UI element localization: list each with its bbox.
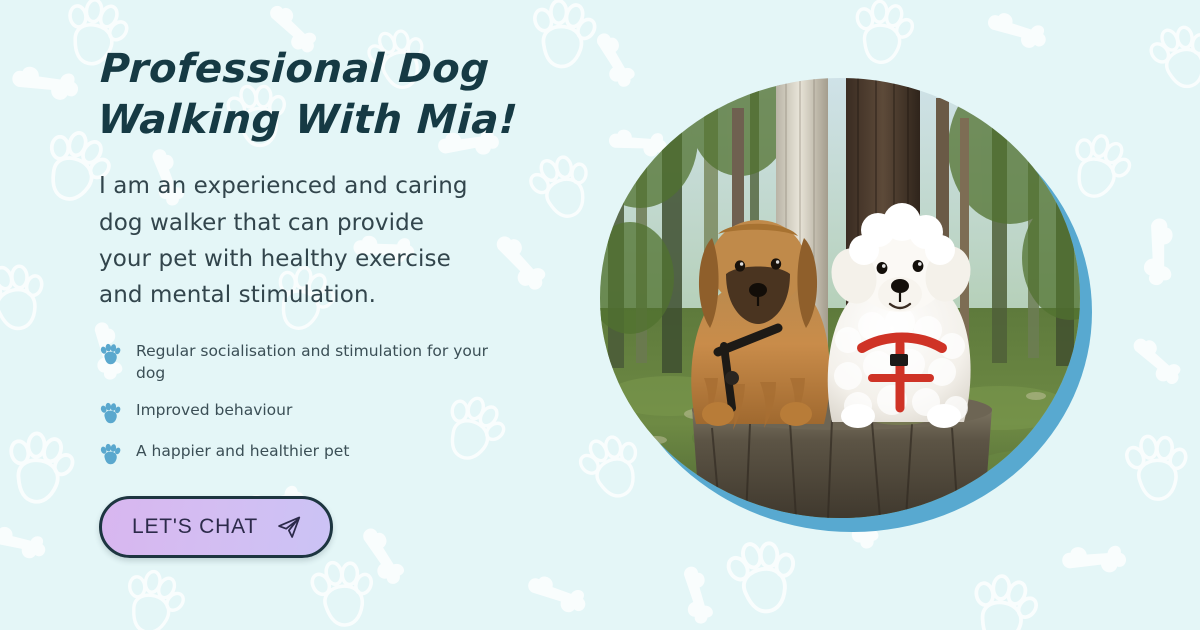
benefit-label: Regular socialisation and stimulation fo… xyxy=(136,340,496,384)
benefit-label: Improved behaviour xyxy=(136,399,292,421)
dogs-on-stump-photo xyxy=(600,78,1080,518)
list-item: Improved behaviour xyxy=(99,399,569,425)
list-item: Regular socialisation and stimulation fo… xyxy=(99,340,569,384)
hero-banner: Professional Dog Walking With Mia! I am … xyxy=(0,0,1200,630)
brown-dog xyxy=(691,220,830,430)
hero-content: Professional Dog Walking With Mia! I am … xyxy=(99,44,569,558)
lets-chat-button[interactable]: LET'S CHAT xyxy=(99,496,333,558)
hero-description: I am an experienced and caring dog walke… xyxy=(99,168,569,313)
page-title: Professional Dog Walking With Mia! xyxy=(96,44,571,146)
hero-photo xyxy=(600,78,1098,538)
list-item: A happier and healthier pet xyxy=(99,440,569,466)
benefit-label: A happier and healthier pet xyxy=(136,440,349,462)
lets-chat-button-label: LET'S CHAT xyxy=(132,515,258,539)
paw-print-icon xyxy=(99,443,122,466)
photo-circle-mask xyxy=(600,78,1080,518)
send-paper-plane-icon xyxy=(276,514,302,540)
benefits-list: Regular socialisation and stimulation fo… xyxy=(99,340,569,466)
paw-print-icon xyxy=(99,343,122,366)
paw-print-icon xyxy=(99,402,122,425)
